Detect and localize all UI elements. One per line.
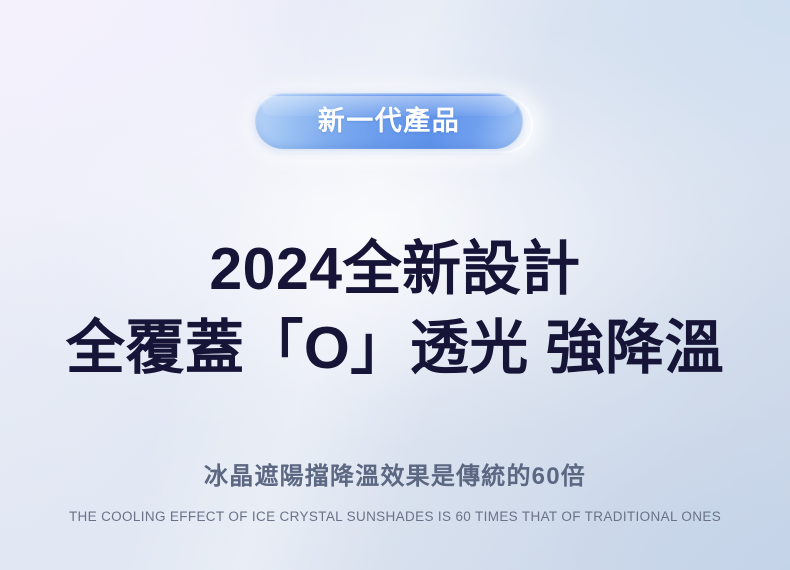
subtitle-block: 冰晶遮陽擋降溫效果是傳統的60倍 THE COOLING EFFECT OF I… — [0, 463, 790, 525]
badge-label: 新一代產品 — [318, 108, 461, 135]
headline-block: 2024全新設計 全覆蓋「O」透光 強降溫 — [0, 240, 790, 378]
headline-line-2: 全覆蓋「O」透光 強降溫 — [0, 319, 790, 378]
badge-pill-body[interactable]: 新一代產品 — [255, 93, 523, 149]
headline-line-1: 2024全新設計 — [0, 240, 790, 299]
subtitle-english: THE COOLING EFFECT OF ICE CRYSTAL SUNSHA… — [0, 509, 790, 525]
subtitle-chinese: 冰晶遮陽擋降溫效果是傳統的60倍 — [0, 463, 790, 492]
banner-content: 新一代產品 2024全新設計 全覆蓋「O」透光 強降溫 冰晶遮陽擋降溫效果是傳統… — [0, 0, 790, 570]
hero-banner: 新一代產品 2024全新設計 全覆蓋「O」透光 強降溫 冰晶遮陽擋降溫效果是傳統… — [0, 0, 790, 570]
new-generation-badge[interactable]: 新一代產品 — [245, 88, 545, 160]
